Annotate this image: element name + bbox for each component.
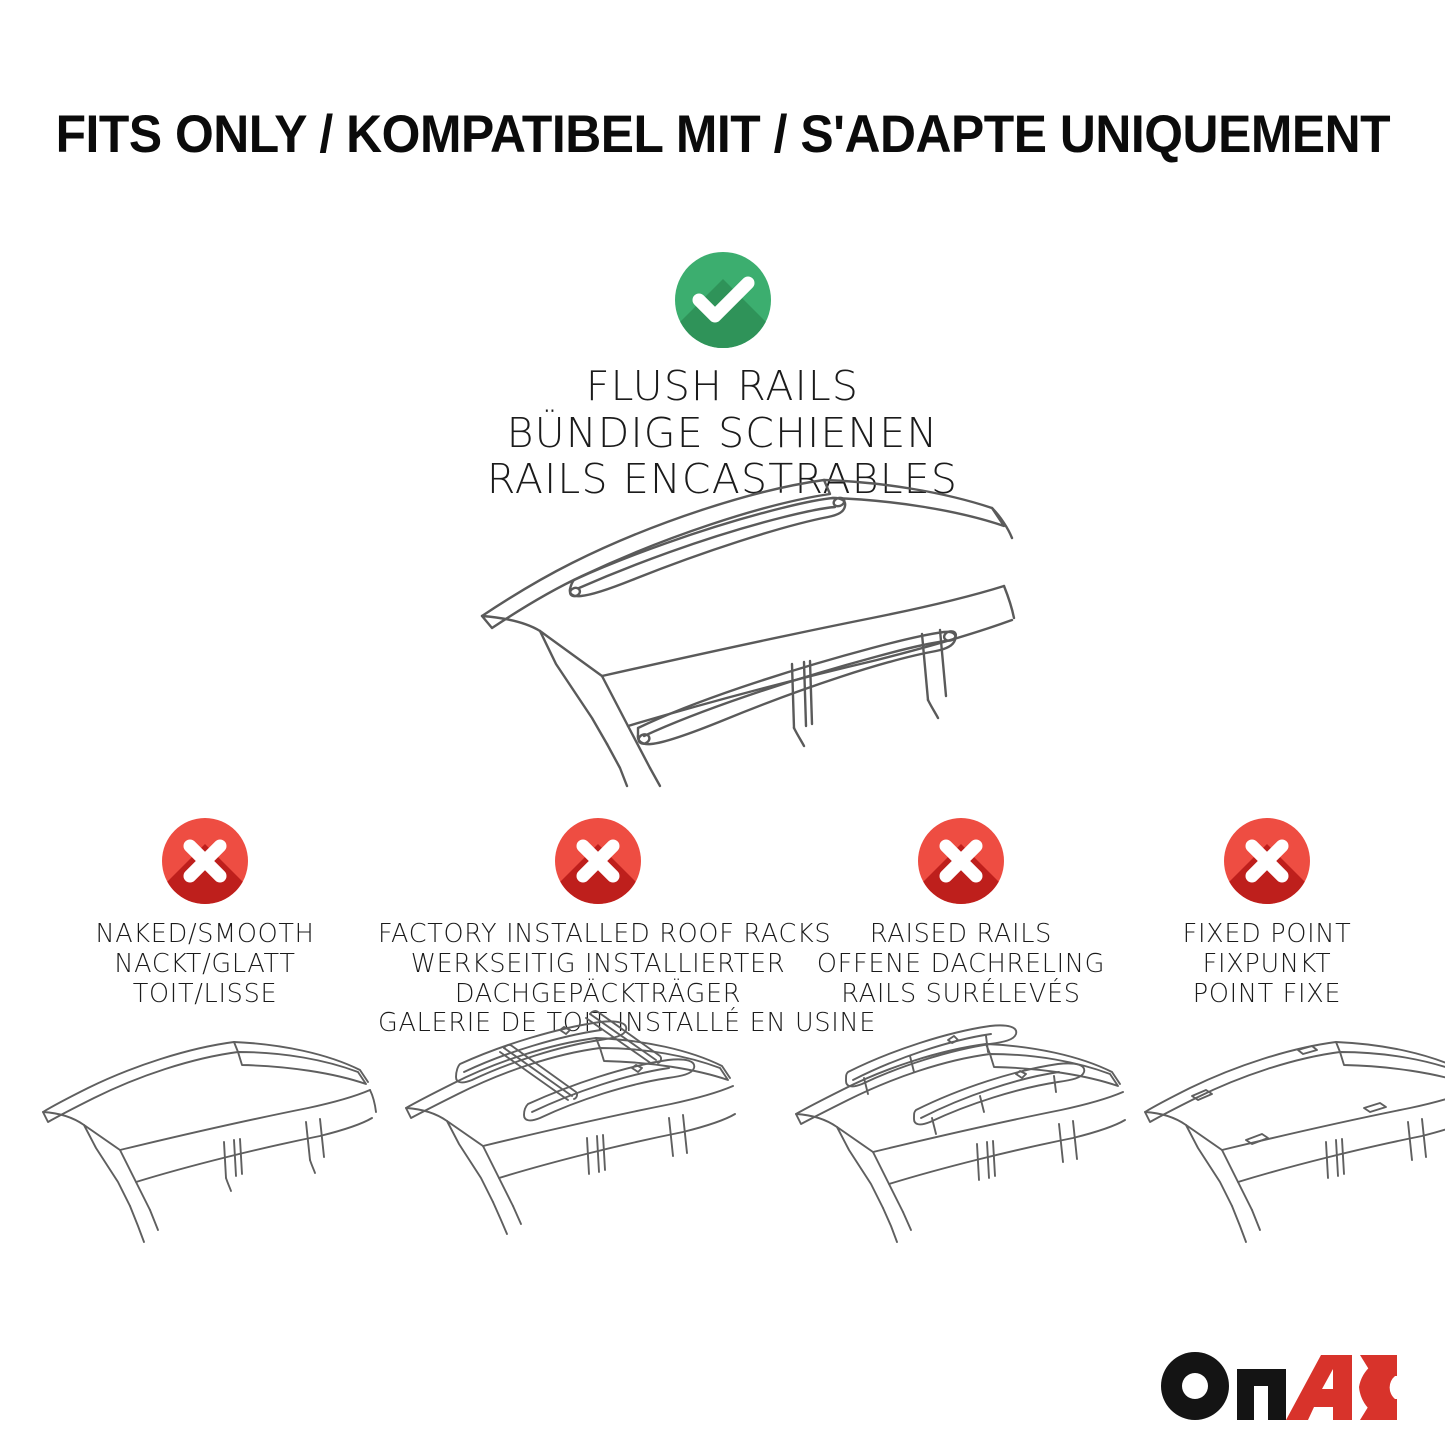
check-mark-glyph bbox=[675, 252, 771, 348]
column-label-fr: TOIT/LISSE bbox=[35, 980, 375, 1010]
x-circle-icon bbox=[1224, 818, 1310, 904]
x-mark-glyph bbox=[555, 818, 641, 904]
column-labels: RAISED RAILS OFFENE DACHRELING RAILS SUR… bbox=[806, 920, 1116, 1009]
column-label-en: NAKED/SMOOTH bbox=[35, 920, 375, 950]
column-badge-wrap bbox=[806, 818, 1116, 914]
omac-logo-ac bbox=[1286, 1355, 1397, 1420]
omac-logo bbox=[1155, 1349, 1405, 1423]
column-label-en: RAISED RAILS bbox=[806, 920, 1116, 950]
column-labels: NAKED/SMOOTH NACKT/GLATT TOIT/LISSE bbox=[35, 920, 375, 1009]
compatible-label-en: FLUSH RAILS bbox=[0, 363, 1445, 410]
car-roof-naked-illustration bbox=[38, 1030, 378, 1265]
x-circle-icon bbox=[162, 818, 248, 904]
column-label-en: FACTORY INSTALLED ROOF RACKS bbox=[378, 920, 818, 950]
incompatible-column-naked: NAKED/SMOOTH NACKT/GLATT TOIT/LISSE bbox=[35, 818, 375, 1009]
column-label-en: FIXED POINT bbox=[1117, 920, 1417, 950]
x-circle-icon bbox=[555, 818, 641, 904]
column-label-de: OFFENE DACHRELING bbox=[806, 950, 1116, 980]
x-circle-icon bbox=[918, 818, 1004, 904]
incompatible-column-raised-rails: RAISED RAILS OFFENE DACHRELING RAILS SUR… bbox=[806, 818, 1116, 1009]
column-badge-wrap bbox=[35, 818, 375, 914]
compatible-section: FLUSH RAILS BÜNDIGE SCHIENEN RAILS ENCAS… bbox=[0, 252, 1445, 503]
infographic-page: FITS ONLY / KOMPATIBEL MIT / S'ADAPTE UN… bbox=[0, 0, 1445, 1445]
column-badge-wrap bbox=[378, 818, 818, 914]
column-badge-wrap bbox=[1117, 818, 1417, 914]
incompatible-column-fixed-point: FIXED POINT FIXPUNKT POINT FIXE bbox=[1117, 818, 1417, 1009]
page-title: FITS ONLY / KOMPATIBEL MIT / S'ADAPTE UN… bbox=[0, 104, 1445, 165]
x-mark-glyph bbox=[162, 818, 248, 904]
compatible-label-de: BÜNDIGE SCHIENEN bbox=[0, 410, 1445, 457]
column-label-fr: RAILS SURÉLEVÉS bbox=[806, 980, 1116, 1010]
car-roof-raised-rails-illustration bbox=[790, 1014, 1130, 1249]
omac-wordmark bbox=[1155, 1349, 1405, 1423]
omac-logo-om bbox=[1161, 1352, 1286, 1420]
page-title-text: FITS ONLY / KOMPATIBEL MIT / S'ADAPTE UN… bbox=[55, 104, 1390, 165]
column-label-de-1: WERKSEITIG INSTALLIERTER bbox=[378, 950, 818, 980]
column-label-de: NACKT/GLATT bbox=[35, 950, 375, 980]
column-labels: FIXED POINT FIXPUNKT POINT FIXE bbox=[1117, 920, 1417, 1009]
x-mark-glyph bbox=[1224, 818, 1310, 904]
check-circle-icon bbox=[675, 252, 771, 348]
car-roof-factory-racks-illustration bbox=[400, 1004, 740, 1239]
car-roof-fixed-point-illustration bbox=[1140, 1030, 1445, 1265]
car-roof-with-flush-rails-illustration bbox=[452, 468, 1022, 798]
column-label-de: FIXPUNKT bbox=[1117, 950, 1417, 980]
column-label-fr: POINT FIXE bbox=[1117, 980, 1417, 1010]
x-mark-glyph bbox=[918, 818, 1004, 904]
